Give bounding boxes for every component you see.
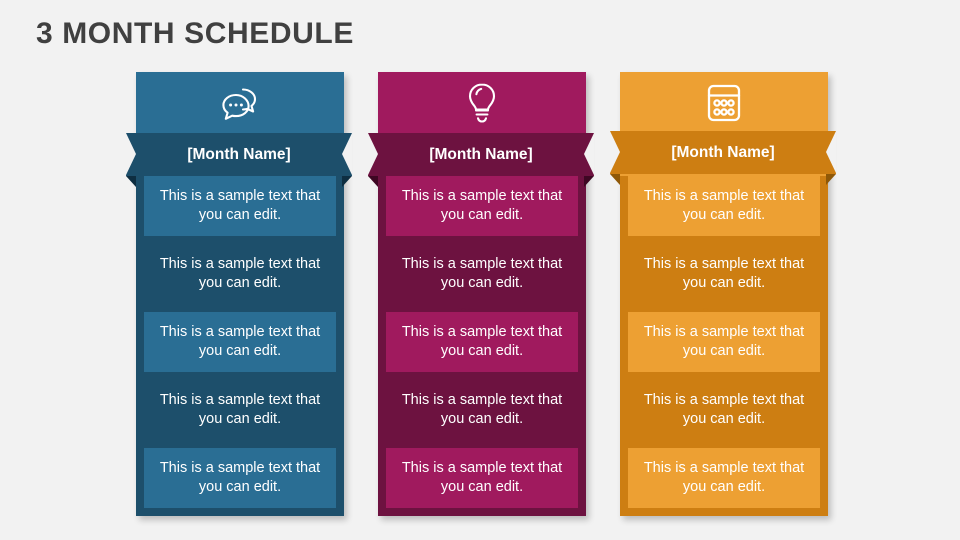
month-ribbon[interactable]: [Month Name] xyxy=(610,131,836,174)
page-title: 3 MONTH SCHEDULE xyxy=(36,17,354,51)
ribbon-notch-left xyxy=(368,133,378,175)
list-item[interactable]: This is a sample text that you can edit. xyxy=(136,380,344,440)
month-name-label: [Month Name] xyxy=(187,146,290,164)
chat-bubbles-icon xyxy=(218,83,262,123)
ribbon-notch-left xyxy=(610,131,620,173)
month-name-label: [Month Name] xyxy=(429,146,532,164)
icon-panel xyxy=(136,72,344,134)
ribbon-fold-left xyxy=(126,176,136,187)
list-item[interactable]: This is a sample text that you can edit. xyxy=(378,380,586,440)
row-text: This is a sample text that you can edit. xyxy=(150,391,330,429)
list-item[interactable]: This is a sample text that you can edit. xyxy=(628,176,820,236)
calendar-icon xyxy=(704,82,744,124)
schedule-column-3[interactable]: This is a sample text that you can edit.… xyxy=(620,72,828,516)
row-text: This is a sample text that you can edit. xyxy=(392,255,572,293)
row-text: This is a sample text that you can edit. xyxy=(158,187,322,225)
row-text: This is a sample text that you can edit. xyxy=(150,255,330,293)
ribbon-notch-right xyxy=(342,133,352,175)
ribbon-fold-left xyxy=(368,176,378,187)
row-text: This is a sample text that you can edit. xyxy=(642,323,806,361)
row-text: This is a sample text that you can edit. xyxy=(392,391,572,429)
schedule-column-1[interactable]: This is a sample text that you can edit.… xyxy=(136,72,344,516)
icon-panel xyxy=(378,72,586,134)
month-ribbon[interactable]: [Month Name] xyxy=(368,133,594,176)
row-text: This is a sample text that you can edit. xyxy=(400,459,564,497)
ribbon-fold-left xyxy=(610,174,620,185)
row-text: This is a sample text that you can edit. xyxy=(158,323,322,361)
list-item[interactable]: This is a sample text that you can edit. xyxy=(386,448,578,508)
list-item[interactable]: This is a sample text that you can edit. xyxy=(628,312,820,372)
row-list: This is a sample text that you can edit.… xyxy=(144,176,336,508)
row-text: This is a sample text that you can edit. xyxy=(642,187,806,225)
list-item[interactable]: This is a sample text that you can edit. xyxy=(386,312,578,372)
list-item[interactable]: This is a sample text that you can edit. xyxy=(378,244,586,304)
schedule-column-2[interactable]: This is a sample text that you can edit.… xyxy=(378,72,586,516)
row-text: This is a sample text that you can edit. xyxy=(400,187,564,225)
row-text: This is a sample text that you can edit. xyxy=(634,255,814,293)
list-item[interactable]: This is a sample text that you can edit. xyxy=(144,176,336,236)
row-list: This is a sample text that you can edit.… xyxy=(386,176,578,508)
list-item[interactable]: This is a sample text that you can edit. xyxy=(144,448,336,508)
list-item[interactable]: This is a sample text that you can edit. xyxy=(136,244,344,304)
list-item[interactable]: This is a sample text that you can edit. xyxy=(386,176,578,236)
ribbon-notch-right xyxy=(584,133,594,175)
list-item[interactable]: This is a sample text that you can edit. xyxy=(620,244,828,304)
list-item[interactable]: This is a sample text that you can edit. xyxy=(628,448,820,508)
list-item[interactable]: This is a sample text that you can edit. xyxy=(144,312,336,372)
list-item[interactable]: This is a sample text that you can edit. xyxy=(620,380,828,440)
row-text: This is a sample text that you can edit. xyxy=(400,323,564,361)
month-name-label: [Month Name] xyxy=(671,144,774,162)
month-ribbon[interactable]: [Month Name] xyxy=(126,133,352,176)
slide-canvas: 3 MONTH SCHEDULE This is a sample text t… xyxy=(0,0,960,540)
icon-panel xyxy=(620,72,828,134)
row-text: This is a sample text that you can edit. xyxy=(158,459,322,497)
row-text: This is a sample text that you can edit. xyxy=(634,391,814,429)
row-text: This is a sample text that you can edit. xyxy=(642,459,806,497)
ribbon-notch-left xyxy=(126,133,136,175)
lightbulb-icon xyxy=(465,81,499,125)
ribbon-notch-right xyxy=(826,131,836,173)
row-list: This is a sample text that you can edit.… xyxy=(628,176,820,508)
